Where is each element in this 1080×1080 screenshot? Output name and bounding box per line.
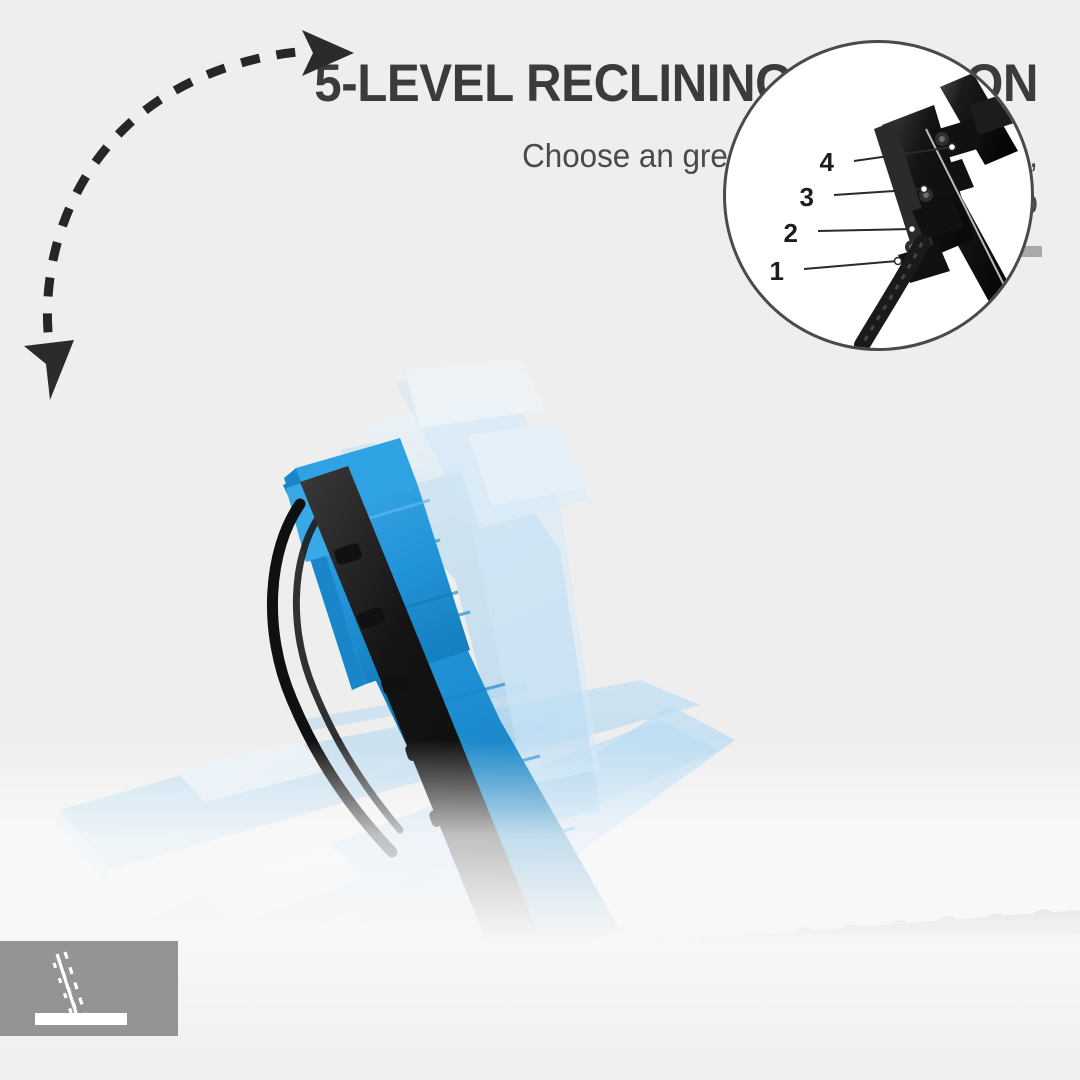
brand-logo-mark <box>0 941 178 1036</box>
infographic-canvas: 5-LEVEL RECLINING POSITION Choose an gre… <box>0 0 1080 1080</box>
arrowhead-bottom <box>24 340 74 400</box>
ratchet-detail-illustration <box>726 43 1031 348</box>
logo-bar <box>35 1013 127 1025</box>
recline-range-arrow <box>6 28 356 408</box>
notch-label-3: 3 <box>784 182 814 213</box>
detail-callout-circle: 4 3 2 1 <box>723 40 1034 351</box>
arrow-arc <box>47 52 298 368</box>
arrowhead-top <box>302 30 354 76</box>
brand-badge <box>0 941 178 1036</box>
logo-dashed-ladder <box>54 952 86 1023</box>
notch-label-2: 2 <box>768 218 798 249</box>
notch-label-4: 4 <box>804 147 834 178</box>
notch-label-1: 1 <box>754 256 784 287</box>
